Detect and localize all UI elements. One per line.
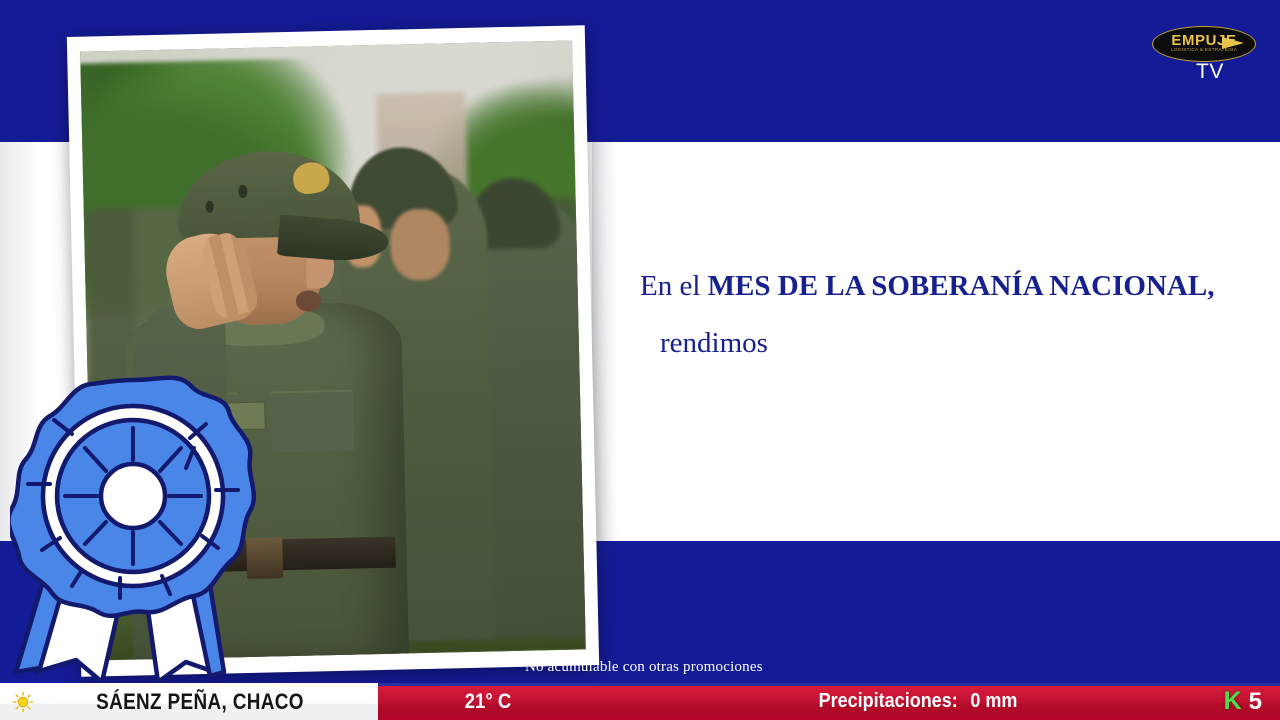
promo-disclaimer: *No acumulable con otras promociones bbox=[0, 659, 1280, 676]
ticker-weather-section: 21° C Precipitaciones: 0 mm K 5 bbox=[378, 683, 1280, 720]
ticker-precipitation-label: Precipitaciones: bbox=[819, 690, 958, 713]
logo-arrow-icon bbox=[1222, 37, 1244, 49]
channel-letter: K bbox=[1224, 689, 1242, 714]
ticker-precipitation: Precipitaciones: 0 mm bbox=[729, 683, 1107, 720]
cockade-rosette bbox=[10, 372, 256, 682]
promo-message-prefix: En el bbox=[640, 270, 708, 302]
ticker-temperature: 21° C bbox=[391, 683, 585, 720]
logo-tv-text: TV bbox=[1196, 60, 1224, 84]
promo-message-emphasis: MES DE LA SOBERANÍA NACIONAL, bbox=[708, 270, 1215, 302]
ticker-location-text: SÁENZ PEÑA, CHACO bbox=[69, 689, 355, 715]
channel-number: 5 bbox=[1249, 690, 1262, 714]
photo-soldier-cap-grommet bbox=[238, 185, 247, 198]
promo-message: En el MES DE LA SOBERANÍA NACIONAL, rend… bbox=[618, 258, 1268, 372]
weather-ticker: SÁENZ PEÑA, CHACO 21° C Precipitaciones:… bbox=[0, 683, 1280, 720]
promo-message-line-1: En el MES DE LA SOBERANÍA NACIONAL, bbox=[618, 258, 1268, 315]
panel-shade-right bbox=[592, 142, 618, 541]
cockade-icon bbox=[10, 372, 256, 682]
sun-icon bbox=[0, 683, 46, 720]
photo-soldier-mouth bbox=[296, 290, 321, 311]
photo-soldier-cap-brim bbox=[277, 214, 390, 264]
ticker-precipitation-value: 0 mm bbox=[970, 690, 1017, 713]
photo-soldier-pocket bbox=[271, 389, 355, 452]
ticker-location-section: SÁENZ PEÑA, CHACO bbox=[0, 683, 378, 720]
photo-soldier-cap-grommet bbox=[206, 201, 214, 213]
promo-message-line-2: rendimos bbox=[618, 315, 1268, 372]
channel-logo: EMPUJE LOGISTICA & ESTRATEGIA TV bbox=[1134, 26, 1262, 88]
channel-badge: K 5 bbox=[1224, 683, 1262, 720]
broadcast-stage: En el MES DE LA SOBERANÍA NACIONAL, rend… bbox=[0, 0, 1280, 720]
sun-icon-glyph bbox=[12, 691, 34, 713]
